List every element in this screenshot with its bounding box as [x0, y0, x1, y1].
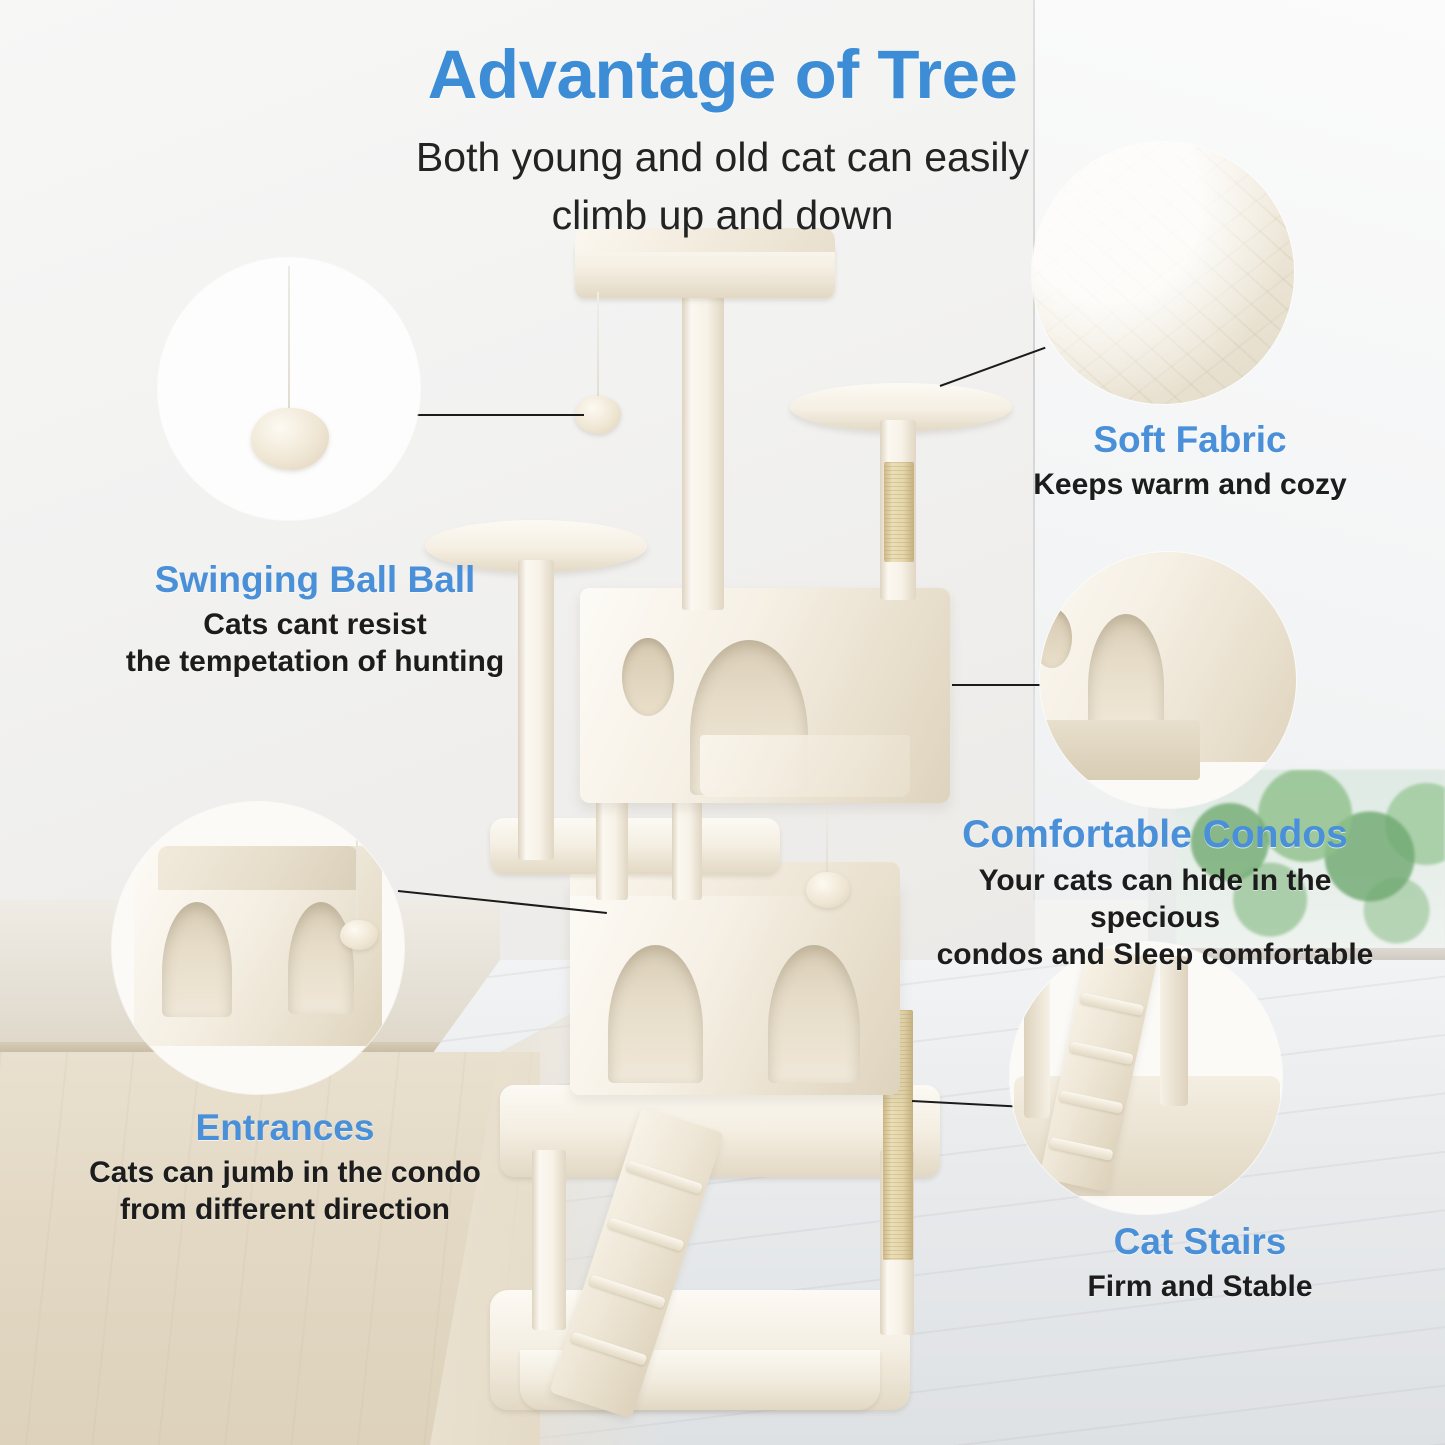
ramp-rung: [570, 1331, 648, 1366]
post-mid-center: [672, 790, 702, 900]
post-lower-left: [532, 1150, 566, 1330]
feature-heading: Soft Fabric: [990, 420, 1390, 461]
feature-body: Cats can jumb in the condo from differen…: [45, 1154, 525, 1228]
page-subtitle-line-1: Both young and old cat can easily: [0, 130, 1445, 185]
hanging-ball-string-lower: [826, 800, 828, 878]
upper-condo-floor: [700, 735, 910, 797]
feature-label-soft-fabric: Soft Fabric Keeps warm and cozy: [990, 420, 1390, 503]
callout-cat-stairs: [1010, 942, 1282, 1214]
post-mid-left: [596, 790, 628, 900]
callout-ball-string: [288, 266, 290, 416]
callout-pompom-ball: [251, 408, 329, 470]
connector-swinging-ball: [408, 414, 584, 416]
callout-entrances-ball-string: [356, 822, 358, 926]
callout-swinging-ball-ball: [158, 258, 420, 520]
feature-body: Keeps warm and cozy: [990, 466, 1390, 503]
feature-label-comfortable-condos: Comfortable Condos Your cats can hide in…: [930, 814, 1380, 973]
callout-stairs-post-right: [1160, 956, 1188, 1106]
callout-stairs-rung: [1049, 1137, 1114, 1161]
post-central-tall: [682, 290, 724, 610]
ramp-rung: [607, 1217, 685, 1252]
callout-entrances-ball: [340, 920, 378, 950]
callout-condo-floor: [1040, 720, 1200, 780]
feature-body: Firm and Stable: [1010, 1268, 1390, 1305]
page-subtitle-line-2: climb up and down: [0, 188, 1445, 243]
upper-condo-oval-window: [622, 638, 674, 716]
lower-platform: [500, 1085, 940, 1177]
callout-stairs-rung: [1079, 992, 1144, 1016]
ramp-rung: [626, 1160, 704, 1195]
hanging-ball-string-upper: [597, 292, 599, 400]
callout-entrances: [112, 802, 404, 1094]
callout-stairs-rung: [1059, 1090, 1124, 1114]
page-title: Advantage of Tree: [0, 35, 1445, 114]
feature-label-cat-stairs: Cat Stairs Firm and Stable: [1010, 1222, 1390, 1305]
hanging-ball-lower: [806, 872, 850, 908]
ramp-rung: [588, 1274, 666, 1309]
feature-heading: Cat Stairs: [1010, 1222, 1390, 1263]
feature-heading: Entrances: [45, 1108, 525, 1149]
feature-label-entrances: Entrances Cats can jumb in the condo fro…: [45, 1108, 525, 1228]
callout-comfortable-condos: [1040, 552, 1296, 808]
feature-label-swinging-ball-ball: Swinging Ball Ball Cats cant resist the …: [60, 560, 570, 680]
connector-condos: [952, 684, 1052, 686]
sisal-scratching-post: [884, 462, 914, 562]
infographic-canvas: Advantage of Tree Both young and old cat…: [0, 0, 1445, 1445]
callout-entrances-roof: [158, 846, 358, 890]
feature-heading: Comfortable Condos: [930, 814, 1380, 857]
callout-stairs-rung: [1069, 1041, 1134, 1065]
callout-stairs-post-left: [1024, 968, 1050, 1118]
feature-body: Your cats can hide in the specious condo…: [930, 862, 1380, 974]
feature-heading: Swinging Ball Ball: [60, 560, 570, 601]
feature-body: Cats cant resist the tempetation of hunt…: [60, 606, 570, 680]
